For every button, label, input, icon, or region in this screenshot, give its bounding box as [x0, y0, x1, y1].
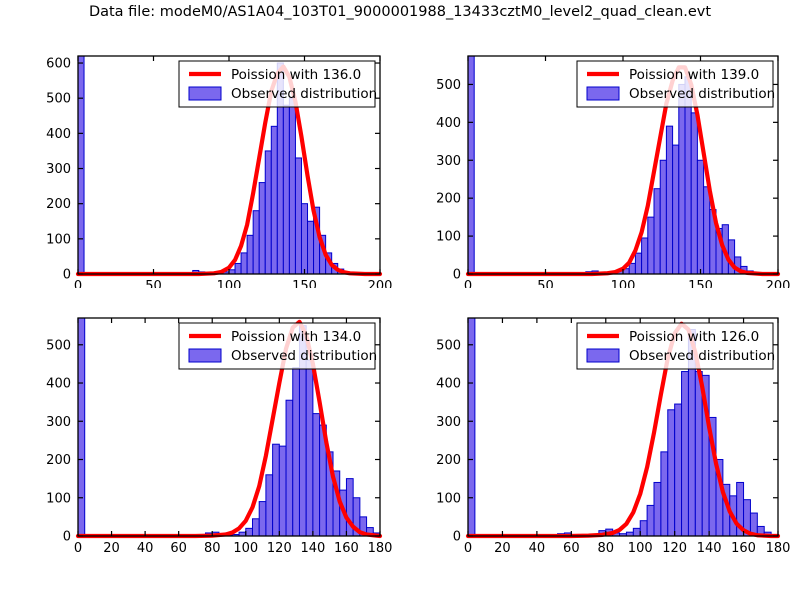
y-tick-label: 600 [46, 57, 71, 72]
y-tick-label: 200 [46, 197, 71, 212]
plot-area-quadrant-0: 0501001502000100200300400500600Poission … [10, 28, 400, 290]
y-tick-label: 500 [436, 338, 461, 353]
plot-area-quadrant-1: 0501001502000100200300400500Poission wit… [408, 28, 798, 290]
y-tick-label: 300 [46, 162, 71, 177]
axes-top-mask [408, 288, 798, 318]
y-tick-label: 300 [46, 415, 71, 430]
x-tick-label: 40 [529, 541, 546, 556]
legend-label-poisson: Poission with 139.0 [629, 67, 759, 83]
x-tick-label: 0 [464, 541, 472, 556]
subplot-quadrant-1: Quadrant 1: Median=139.00501001502000100… [408, 28, 798, 290]
y-tick-label: 200 [46, 453, 71, 468]
x-tick-label: 80 [598, 541, 615, 556]
subplot-quadrant-3: Quadrant 3: Median=126.00204060801001201… [408, 288, 798, 558]
y-tick-label: 100 [46, 232, 71, 247]
legend-label-observed: Observed distribution [231, 348, 377, 364]
y-tick-label: 500 [46, 92, 71, 107]
x-tick-label: 160 [731, 541, 756, 556]
y-tick-label: 100 [436, 230, 461, 245]
x-tick-label: 60 [170, 541, 187, 556]
x-tick-label: 140 [697, 541, 722, 556]
x-tick-label: 20 [103, 541, 120, 556]
axes-top-mask [10, 288, 400, 318]
y-tick-label: 300 [436, 154, 461, 169]
axes-top-mask [10, 28, 400, 56]
x-tick-label: 180 [368, 541, 393, 556]
plot-area-quadrant-2: 0204060801001201401601800100200300400500… [10, 288, 400, 558]
y-tick-label: 0 [63, 268, 71, 283]
x-tick-label: 0 [74, 541, 82, 556]
y-tick-label: 500 [46, 338, 71, 353]
x-tick-label: 60 [563, 541, 580, 556]
legend-label-poisson: Poission with 134.0 [231, 329, 361, 345]
legend[interactable]: Poission with 136.0Observed distribution [179, 61, 377, 107]
legend-label-observed: Observed distribution [629, 86, 775, 102]
y-tick-label: 100 [436, 491, 461, 506]
y-tick-label: 400 [46, 127, 71, 142]
x-tick-label: 160 [334, 541, 359, 556]
y-tick-label: 300 [436, 415, 461, 430]
x-tick-label: 180 [766, 541, 791, 556]
plot-area-quadrant-3: 0204060801001201401601800100200300400500… [408, 288, 798, 558]
y-tick-label: 400 [436, 116, 461, 131]
x-tick-label: 120 [662, 541, 687, 556]
legend-label-observed: Observed distribution [231, 86, 377, 102]
y-tick-label: 0 [453, 268, 461, 283]
x-tick-label: 120 [267, 541, 292, 556]
legend-label-poisson: Poission with 126.0 [629, 329, 759, 345]
x-tick-label: 100 [233, 541, 258, 556]
legend-label-poisson: Poission with 136.0 [231, 67, 361, 83]
figure-suptitle: Data file: modeM0/AS1A04_103T01_90000019… [0, 4, 800, 20]
y-tick-label: 100 [46, 491, 71, 506]
x-tick-label: 140 [300, 541, 325, 556]
y-tick-label: 0 [63, 530, 71, 545]
x-tick-label: 100 [628, 541, 653, 556]
x-tick-label: 20 [494, 541, 511, 556]
x-tick-label: 40 [137, 541, 154, 556]
axes-top-mask [408, 28, 798, 56]
legend-label-observed: Observed distribution [629, 348, 775, 364]
y-tick-label: 400 [436, 377, 461, 392]
y-tick-label: 500 [436, 78, 461, 93]
subplot-quadrant-2: Quadrant 2: Median=134.00204060801001201… [10, 288, 400, 558]
legend[interactable]: Poission with 139.0Observed distribution [577, 61, 775, 107]
x-tick-label: 80 [204, 541, 221, 556]
subplot-quadrant-0: Quadrant 0: Median=136.00501001502000100… [10, 28, 400, 290]
y-tick-label: 200 [436, 453, 461, 468]
figure-canvas: Data file: modeM0/AS1A04_103T01_90000019… [0, 0, 800, 600]
legend[interactable]: Poission with 126.0Observed distribution [577, 323, 775, 369]
y-tick-label: 200 [436, 192, 461, 207]
y-tick-label: 0 [453, 530, 461, 545]
y-tick-label: 400 [46, 377, 71, 392]
legend[interactable]: Poission with 134.0Observed distribution [179, 323, 377, 369]
